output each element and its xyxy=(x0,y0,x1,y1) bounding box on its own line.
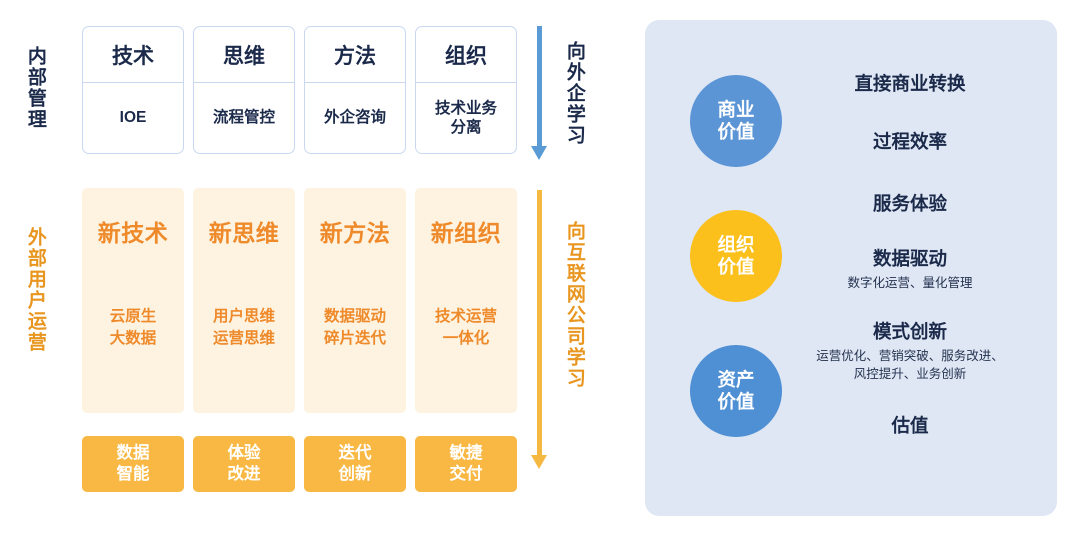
value-item-sub: 数字化运营、量化管理 xyxy=(795,275,1025,293)
top-card-sub: 外企咨询 xyxy=(305,83,405,153)
learn-from-internet-companies-label: 向互联网公司学习 xyxy=(563,190,585,420)
mid-card-title: 新方法 xyxy=(320,214,391,248)
value-item-main: 过程效率 xyxy=(795,128,1025,154)
top-card-title: 方法 xyxy=(305,27,405,83)
value-item-main: 直接商业转换 xyxy=(795,70,1025,96)
mid-card-sub: 用户思维运营思维 xyxy=(213,306,275,351)
value-item-main: 数据驱动 xyxy=(795,245,1025,271)
value-item-main: 估值 xyxy=(795,412,1025,438)
learn-from-foreign-companies-label: 向外企学习 xyxy=(563,28,585,158)
mid-card-title: 新技术 xyxy=(98,214,169,248)
mid-card: 新思维 用户思维运营思维 xyxy=(193,188,295,413)
mid-card: 新技术 云原生大数据 xyxy=(82,188,184,413)
top-card-title: 组织 xyxy=(416,27,516,83)
top-card-sub: 技术业务分离 xyxy=(416,83,516,153)
top-card: 组织 技术业务分离 xyxy=(415,26,517,154)
value-item: 过程效率 xyxy=(795,128,1025,154)
bottom-card: 敏捷交付 xyxy=(415,436,517,492)
value-item: 数据驱动 数字化运营、量化管理 xyxy=(795,245,1025,293)
value-item: 估值 xyxy=(795,412,1025,438)
mid-card-sub: 技术运营一体化 xyxy=(435,306,497,351)
value-item: 模式创新 运营优化、营销突破、服务改进、风控提升、业务创新 xyxy=(795,318,1025,383)
top-card-sub: IOE xyxy=(83,83,183,153)
mid-card-title: 新组织 xyxy=(431,214,502,248)
value-item: 直接商业转换 xyxy=(795,70,1025,96)
value-item-sub: 运营优化、营销突破、服务改进、风控提升、业务创新 xyxy=(795,348,1025,383)
value-item-main: 服务体验 xyxy=(795,190,1025,216)
bubble-organization-value: 组织价值 xyxy=(690,210,782,302)
mid-card-sub: 数据驱动碎片迭代 xyxy=(324,306,386,351)
top-card-sub: 流程管控 xyxy=(194,83,294,153)
mid-card: 新组织 技术运营一体化 xyxy=(415,188,517,413)
top-card-title: 技术 xyxy=(83,27,183,83)
bubble-asset-value: 资产价值 xyxy=(690,345,782,437)
down-arrow-blue-icon xyxy=(531,26,547,160)
internal-management-label: 内部管理 xyxy=(24,28,46,148)
bottom-card: 体验改进 xyxy=(193,436,295,492)
down-arrow-orange-icon xyxy=(531,190,547,469)
external-user-operation-label: 外部用户运营 xyxy=(24,190,46,390)
mid-card-title: 新思维 xyxy=(209,214,280,248)
mid-card: 新方法 数据驱动碎片迭代 xyxy=(304,188,406,413)
bottom-card: 数据智能 xyxy=(82,436,184,492)
value-item: 服务体验 xyxy=(795,190,1025,216)
bottom-card: 迭代创新 xyxy=(304,436,406,492)
top-card: 思维 流程管控 xyxy=(193,26,295,154)
top-card: 技术 IOE xyxy=(82,26,184,154)
bubble-business-value: 商业价值 xyxy=(690,75,782,167)
diagram-canvas: 内部管理 外部用户运营 向外企学习 向互联网公司学习 技术 IOE 思维 流程管… xyxy=(0,0,1080,536)
value-item-main: 模式创新 xyxy=(795,318,1025,344)
top-card: 方法 外企咨询 xyxy=(304,26,406,154)
top-card-title: 思维 xyxy=(194,27,294,83)
mid-card-sub: 云原生大数据 xyxy=(110,306,157,351)
